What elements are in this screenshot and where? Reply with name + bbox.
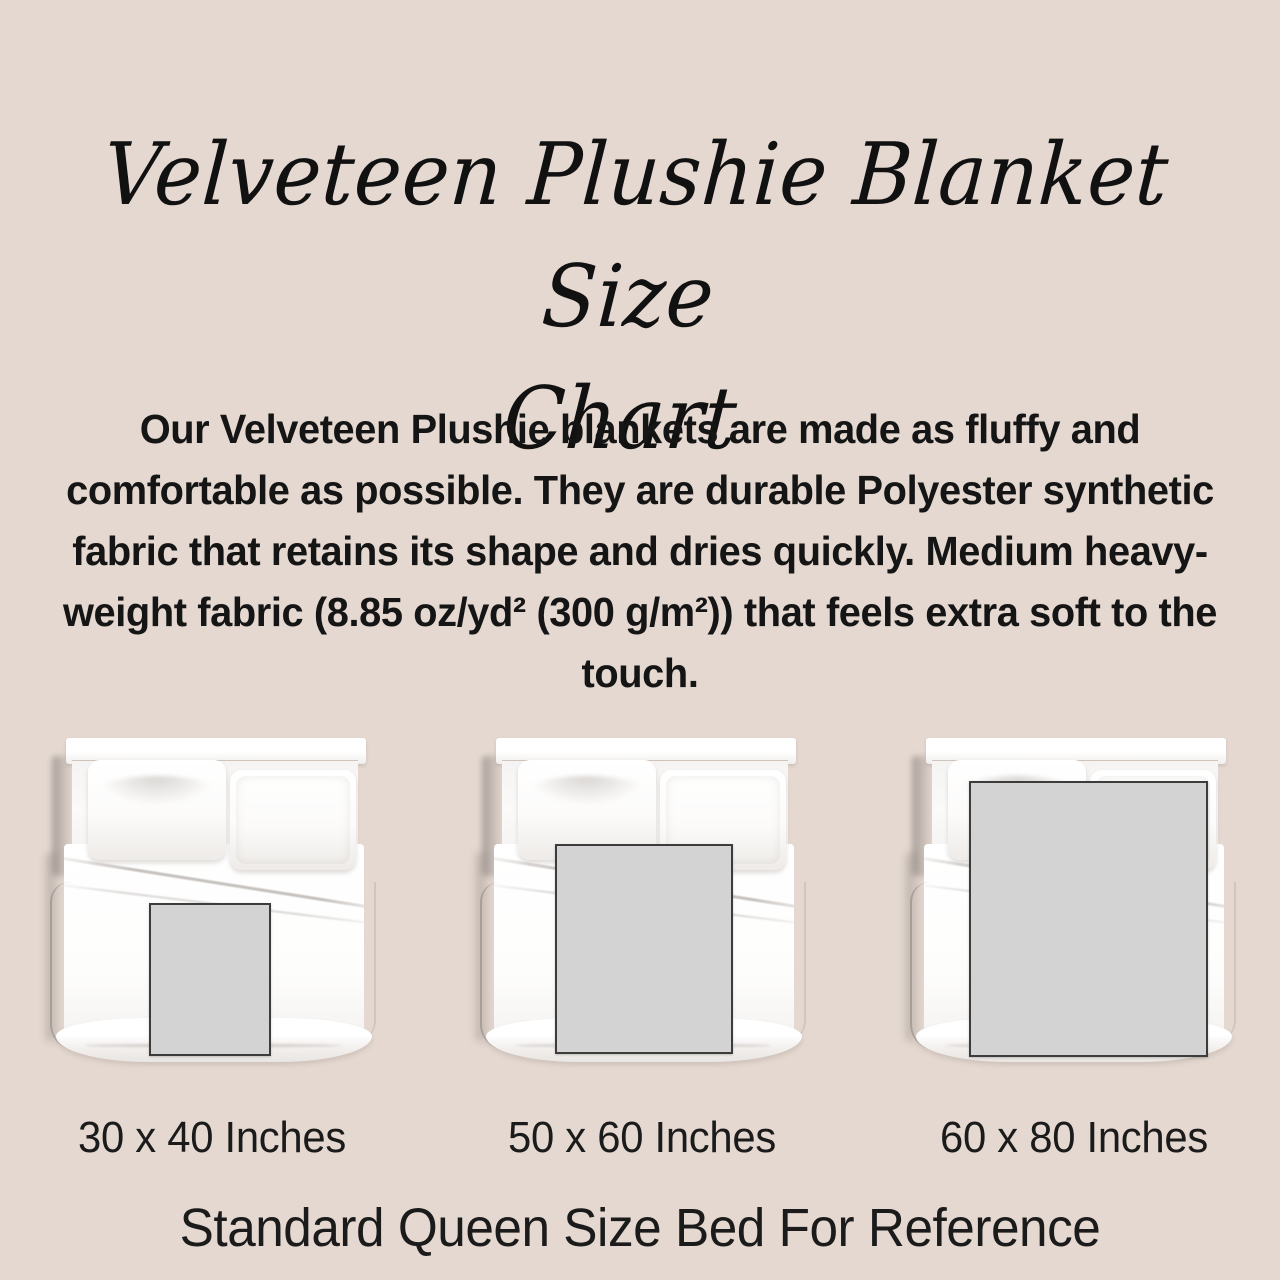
pillow-left bbox=[88, 760, 226, 860]
size-labels-row: 30 x 40 Inches 50 x 60 Inches 60 x 80 In… bbox=[0, 1110, 1280, 1170]
blanket-swatch-50x60 bbox=[555, 844, 733, 1054]
blanket-swatch-30x40 bbox=[149, 903, 271, 1056]
bed-illustration-50x60 bbox=[468, 732, 820, 1080]
footer-caption: Standard Queen Size Bed For Reference bbox=[32, 1196, 1248, 1260]
bed-illustration-30x40 bbox=[38, 732, 390, 1080]
pillow-right bbox=[230, 770, 356, 870]
duvet-corner-right bbox=[782, 882, 806, 1044]
size-label-30x40: 30 x 40 Inches bbox=[41, 1110, 383, 1166]
size-label-60x80: 60 x 80 Inches bbox=[903, 1110, 1245, 1166]
bed-illustration-60x80 bbox=[898, 732, 1250, 1080]
page-title-line-1: Velveteen Plushie Blanket Size bbox=[101, 125, 1172, 347]
duvet-corner-right bbox=[352, 882, 376, 1044]
bed-illustrations-row bbox=[0, 732, 1280, 1080]
size-label-50x60: 50 x 60 Inches bbox=[471, 1110, 813, 1166]
duvet-corner-right bbox=[1212, 882, 1236, 1044]
size-chart-page: Velveteen Plushie Blanket Size Chart Our… bbox=[0, 0, 1280, 1280]
intro-paragraph: Our Velveteen Plushie blankets are made … bbox=[52, 399, 1228, 704]
blanket-swatch-60x80 bbox=[969, 781, 1208, 1057]
